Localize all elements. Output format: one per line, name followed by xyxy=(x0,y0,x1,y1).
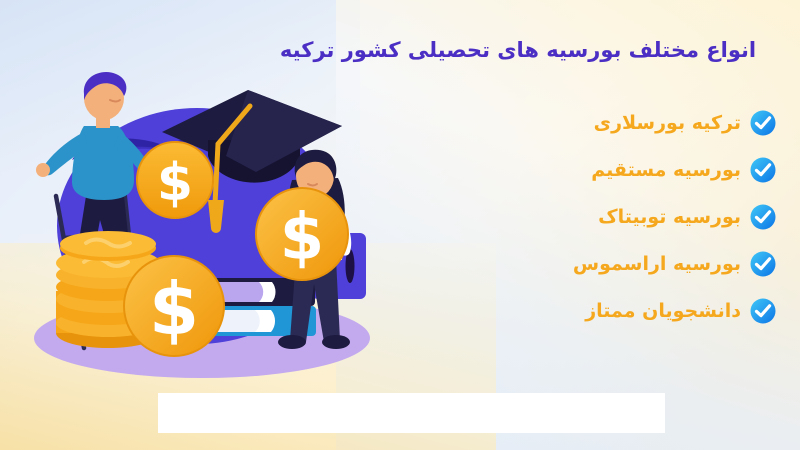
coin-small-top: $ xyxy=(137,142,213,218)
check-circle-icon xyxy=(750,298,776,324)
scholarship-type-list: ترکیه بورسلاری بورسیه مستقیم بورسیه توبی… xyxy=(276,104,776,330)
check-circle-icon xyxy=(750,204,776,230)
svg-text:$: $ xyxy=(157,153,193,213)
list-item[interactable]: دانشجویان ممتاز xyxy=(276,292,776,330)
list-item[interactable]: ترکیه بورسلاری xyxy=(276,104,776,142)
page-title: انواع مختلف بورسیه های تحصیلی کشور ترکیه xyxy=(258,36,778,65)
list-item[interactable]: بورسیه اراسموس xyxy=(276,245,776,283)
list-item-label: بورسیه توبیتاک xyxy=(598,208,741,227)
list-item-label: دانشجویان ممتاز xyxy=(585,302,741,321)
check-circle-icon xyxy=(750,110,776,136)
infographic-canvas: $ $ xyxy=(0,0,800,450)
list-item[interactable]: بورسیه توبیتاک xyxy=(276,198,776,236)
empty-white-bar xyxy=(158,393,665,433)
check-circle-icon xyxy=(750,251,776,277)
list-item-label: بورسیه اراسموس xyxy=(573,255,741,274)
list-item-label: ترکیه بورسلاری xyxy=(594,114,741,133)
check-circle-icon xyxy=(750,157,776,183)
list-item[interactable]: بورسیه مستقیم xyxy=(276,151,776,189)
coin-large-front: $ xyxy=(124,256,224,356)
list-item-label: بورسیه مستقیم xyxy=(591,161,741,180)
svg-text:$: $ xyxy=(149,267,199,351)
